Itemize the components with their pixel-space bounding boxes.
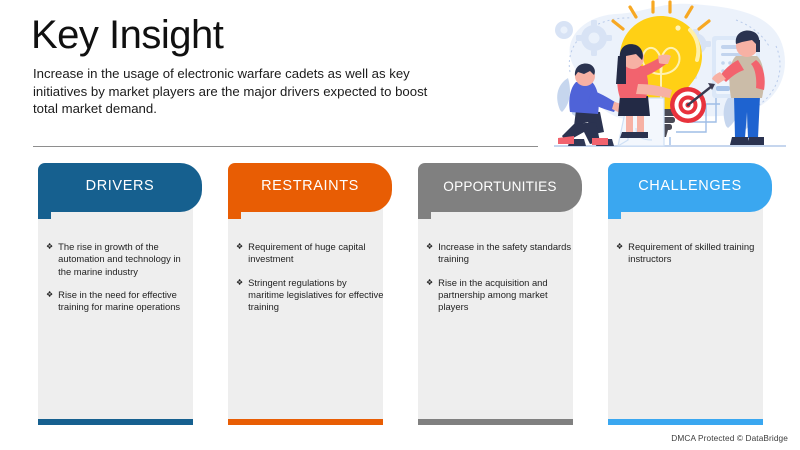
list-item: ❖ Increase in the safety standards train… <box>426 241 574 266</box>
bullet-text: Rise in the need for effective training … <box>58 289 194 314</box>
card-header-label-opportunities: OPPORTUNITIES <box>443 179 556 194</box>
bullet-text: Requirement of skilled training instruct… <box>628 241 764 266</box>
card-footer-bar-opportunities <box>418 419 573 425</box>
list-item: ❖ The rise in growth of the automation a… <box>46 241 194 278</box>
card-bullets-challenges: ❖ Requirement of skilled training instru… <box>616 241 764 277</box>
list-item: ❖ Requirement of skilled training instru… <box>616 241 764 266</box>
card-footer-bar-challenges <box>608 419 763 425</box>
list-item: ❖ Stringent regulations by maritime legi… <box>236 277 384 314</box>
card-header-label-drivers: DRIVERS <box>86 178 155 194</box>
list-item: ❖ Rise in the need for effective trainin… <box>46 289 194 314</box>
card-bullets-restraints: ❖ Requirement of huge capital investment… <box>236 241 384 324</box>
diamond-bullet-icon: ❖ <box>236 277 243 314</box>
list-item: ❖ Rise in the acquisition and partnershi… <box>426 277 574 314</box>
team-idea-lightbulb-illustration <box>540 0 800 150</box>
bullet-text: Increase in the safety standards trainin… <box>438 241 574 266</box>
card-header-drivers[interactable]: DRIVERS <box>38 163 202 212</box>
card-header-label-restraints: RESTRAINTS <box>261 178 359 194</box>
bullet-text: The rise in growth of the automation and… <box>58 241 194 278</box>
card-bullets-drivers: ❖ The rise in growth of the automation a… <box>46 241 194 324</box>
header-divider <box>33 146 538 147</box>
card-header-label-challenges: CHALLENGES <box>638 178 742 194</box>
insight-cards: DRIVERS ❖ The rise in growth of the auto… <box>0 163 800 433</box>
card-bullets-opportunities: ❖ Increase in the safety standards train… <box>426 241 574 324</box>
list-item: ❖ Requirement of huge capital investment <box>236 241 384 266</box>
card-challenges[interactable]: CHALLENGES ❖ Requirement of skilled trai… <box>608 163 772 431</box>
slide-root: Key Insight Increase in the usage of ele… <box>0 0 800 450</box>
diamond-bullet-icon: ❖ <box>426 241 433 266</box>
card-body-challenges <box>608 205 763 419</box>
page-title: Key Insight <box>31 12 223 58</box>
card-footer-bar-restraints <box>228 419 383 425</box>
card-header-challenges[interactable]: CHALLENGES <box>608 163 772 212</box>
card-drivers[interactable]: DRIVERS ❖ The rise in growth of the auto… <box>38 163 202 431</box>
bullet-text: Rise in the acquisition and partnership … <box>438 277 574 314</box>
card-opportunities[interactable]: OPPORTUNITIES ❖ Increase in the safety s… <box>418 163 582 431</box>
card-restraints[interactable]: RESTRAINTS ❖ Requirement of huge capital… <box>228 163 392 431</box>
card-footer-bar-drivers <box>38 419 193 425</box>
diamond-bullet-icon: ❖ <box>46 241 53 278</box>
card-header-opportunities[interactable]: OPPORTUNITIES <box>418 163 582 212</box>
diamond-bullet-icon: ❖ <box>236 241 243 266</box>
bullet-text: Requirement of huge capital investment <box>248 241 384 266</box>
page-subtitle: Increase in the usage of electronic warf… <box>33 65 438 118</box>
card-header-restraints[interactable]: RESTRAINTS <box>228 163 392 212</box>
diamond-bullet-icon: ❖ <box>46 289 53 314</box>
bullet-text: Stringent regulations by maritime legisl… <box>248 277 384 314</box>
diamond-bullet-icon: ❖ <box>616 241 623 266</box>
dmca-footer: DMCA Protected © DataBridge <box>671 433 788 443</box>
gear-icon-small <box>555 21 573 39</box>
diamond-bullet-icon: ❖ <box>426 277 433 314</box>
